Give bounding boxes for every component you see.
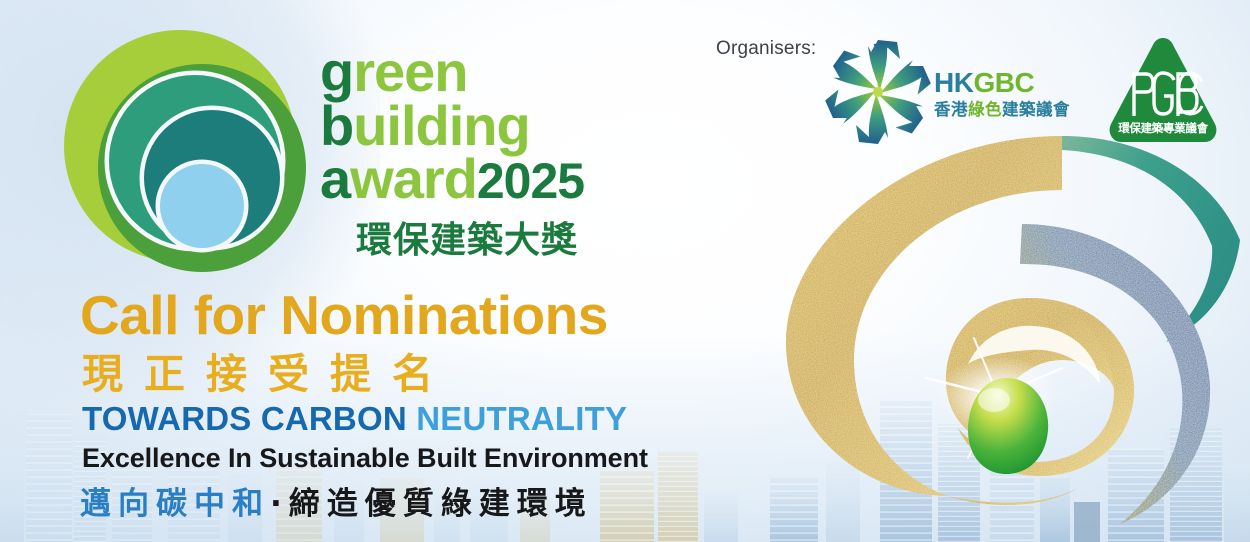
hkgbc-name-block: HKGBC 香港綠色建築議會: [934, 69, 1094, 120]
organisers-label: Organisers:: [716, 38, 816, 60]
tagline-zh-part2: 締造優質綠建環境: [289, 486, 593, 522]
hkgbc-zh-3: 建築議會: [1002, 100, 1070, 119]
call-for-nominations-heading-zh: 現正接受提名: [82, 340, 454, 400]
tagline-zh: 邁向碳中和·締造優質綠建環境: [80, 478, 593, 523]
wordmark-award-rest: ward: [350, 147, 477, 210]
tagline-towards-carbon: TOWARDS CARBON: [82, 400, 416, 437]
call-for-nominations-heading: Call for Nominations: [80, 283, 608, 347]
golden-spiral-graphic: [762, 128, 1250, 542]
hkgbc-acronym: HKGBC: [934, 69, 1094, 97]
tagline-neutrality: NEUTRALITY: [416, 400, 627, 437]
hkgbc-chinese-name: 香港綠色建築議會: [934, 100, 1094, 120]
hkgbc-zh-2: 綠色: [968, 100, 1002, 119]
promo-banner: green building award2025 環保建築大獎 Call for…: [0, 0, 1250, 542]
tagline-en-secondary: Excellence In Sustainable Built Environm…: [82, 443, 648, 474]
wordmark-chinese: 環保建築大獎: [356, 211, 650, 263]
hkgbc-hk: HK: [934, 67, 973, 98]
tagline-zh-part1: 邁向碳中和: [80, 486, 270, 522]
wordmark-award-first: a: [320, 147, 350, 210]
hkgbc-zh-1: 香港: [934, 100, 968, 119]
hkgbc-gbc: GBC: [973, 67, 1034, 98]
green-building-award-logo: [62, 28, 312, 278]
tagline-en-primary: TOWARDS CARBON NEUTRALITY: [82, 400, 627, 438]
tagline-zh-separator: ·: [270, 486, 289, 522]
wordmark-year: 2025: [477, 153, 584, 209]
award-wordmark: green building award2025 環保建築大獎: [320, 46, 650, 263]
